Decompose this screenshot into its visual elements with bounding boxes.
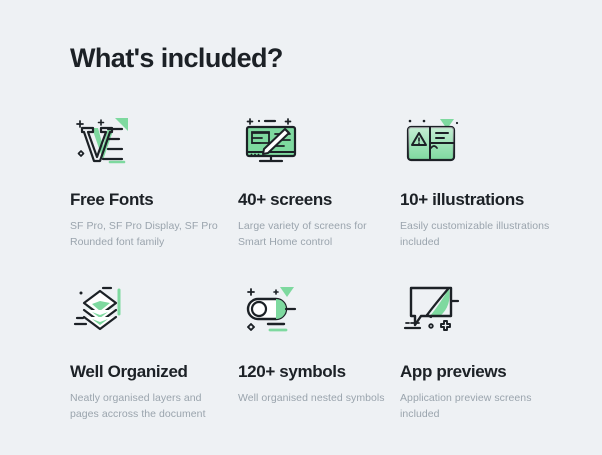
feature-title: App previews [400,362,570,382]
feature-description: Neatly organised layers and pages accros… [70,391,220,422]
feature-title: Well Organized [70,362,238,382]
page-title: What's included? [70,43,283,74]
feature-description: Well organised nested symbols [238,391,388,407]
stacked-layers-icon [70,282,136,340]
feature-title: 10+ illustrations [400,190,570,210]
feature-card-well-organized[interactable]: Well Organized Neatly organised layers a… [70,282,238,422]
feature-description: Large variety of screens for Smart Home … [238,219,388,250]
feature-description: SF Pro, SF Pro Display, SF Pro Rounded f… [70,219,220,250]
feature-card-illustrations[interactable]: 10+ illustrations Easily customizable il… [400,112,570,282]
feature-card-app-previews[interactable]: App previews Application preview screens… [400,282,570,422]
feature-title: Free Fonts [70,190,238,210]
illustrations-frame-icon [400,112,466,170]
feature-description: Easily customizable illustrations includ… [400,219,550,250]
feature-title: 120+ symbols [238,362,400,382]
letter-v-fonts-icon [70,112,136,170]
feature-card-symbols[interactable]: 120+ symbols Well organised nested symbo… [238,282,400,422]
whats-included-page: What's included? Free Fonts SF Pro, SF P… [0,0,602,455]
feature-description: Application preview screens included [400,391,550,422]
feature-card-free-fonts[interactable]: Free Fonts SF Pro, SF Pro Display, SF Pr… [70,112,238,282]
features-grid: Free Fonts SF Pro, SF Pro Display, SF Pr… [70,112,570,422]
speech-bubble-preview-icon [400,282,466,340]
toggle-switch-symbols-icon [238,282,304,340]
feature-title: 40+ screens [238,190,400,210]
feature-card-screens[interactable]: 40+ screens Large variety of screens for… [238,112,400,282]
monitor-screens-icon [238,112,304,170]
